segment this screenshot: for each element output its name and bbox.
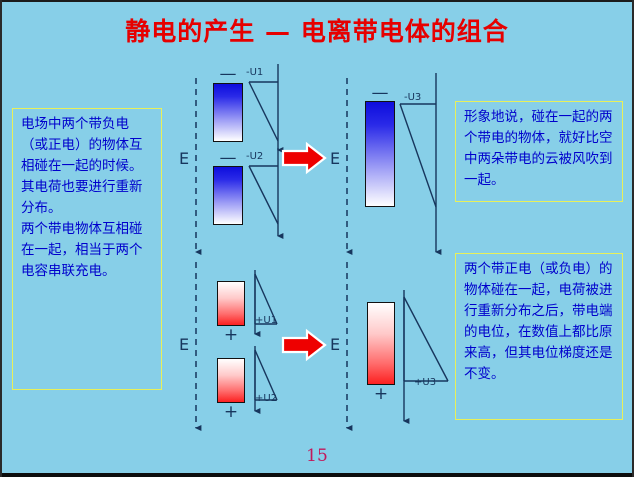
explanation-box-left: 电场中两个带负电（或正电）的物体互相碰在一起的时候。其电荷也要进行重新分布。两个… [12,108,162,390]
explanation-box-top-right: 形象地说，碰在一起的两个带电的物体，就好比空中两朵带电的云被风吹到一起。 [455,101,623,202]
slide-edge-bottom [0,473,634,477]
field-label-e-bottom-right: E [330,337,340,353]
field-label-e-top-left: E [179,151,189,167]
field-label-e-bottom-left: E [179,337,189,353]
slide-canvas: 静电的产生 — 电离带电体的组合 电场中两个带负电（或正电）的物体互相碰在一起的… [0,0,634,477]
field-label-e-top-right: E [330,151,340,167]
charge-sign-negative-1: — [211,66,245,83]
potential-label-u3-positive: +U3 [414,378,436,388]
charge-sign-positive-combined: + [364,386,398,403]
potential-label-u1-negative: -U1 [246,68,263,78]
page-number: 15 [0,446,634,466]
explanation-box-bottom-right: 两个带正电（或负电）的物体碰在一起，电荷被进行重新分布之后，带电端的电位，在数值… [455,253,623,420]
slide-edge-left [0,0,2,477]
transformation-arrow-bottom [283,331,325,359]
charged-bar-negative-combined [365,101,395,207]
charged-bar-negative-2 [213,166,243,225]
potential-label-u2-negative: -U2 [246,152,263,162]
potential-gradient-u3-positive [404,290,448,421]
slide-edge-top [0,0,634,2]
slide-title: 静电的产生 — 电离带电体的组合 [0,12,634,48]
charge-sign-negative-2: — [211,150,245,167]
charge-sign-positive-1: + [214,327,248,344]
potential-label-u2-positive: +U2 [255,394,277,404]
charge-sign-positive-2: + [214,404,248,421]
charged-bar-positive-2 [217,358,245,403]
charged-bar-negative-1 [213,83,243,142]
charged-bar-positive-combined [367,302,395,385]
charged-bar-positive-1 [217,281,245,326]
charge-sign-negative-combined: — [363,85,397,102]
transformation-arrow-top [283,144,325,172]
potential-label-u3-negative: -U3 [404,93,421,103]
potential-label-u1-positive: +U1 [255,316,277,326]
